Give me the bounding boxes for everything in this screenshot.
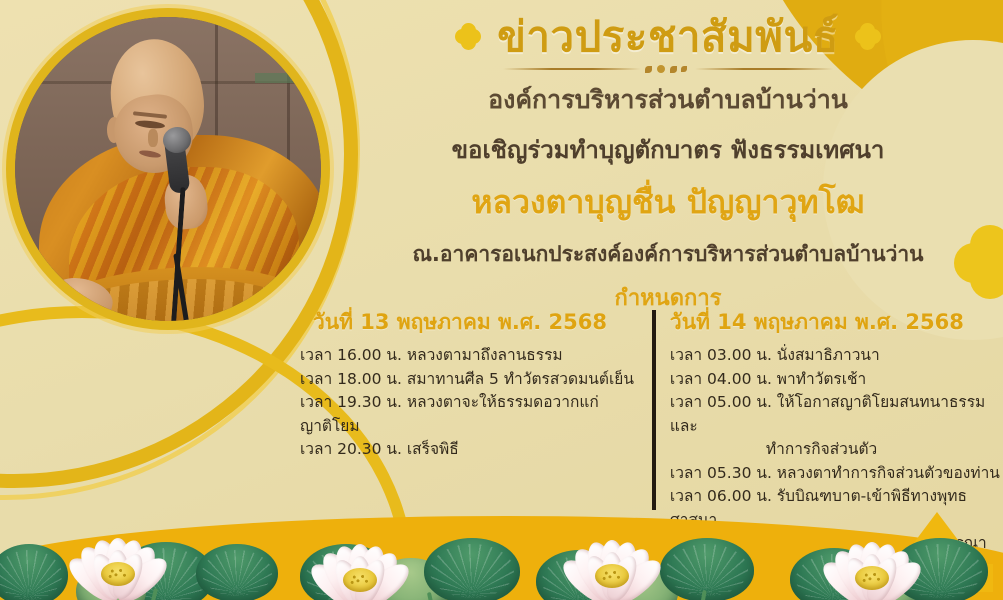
lotus-core	[595, 564, 629, 588]
lotus-flowers-band	[0, 480, 1003, 600]
schedule-item: เวลา 18.00 น. สมาทานศีล 5 ทำวัตรสวดมนต์เ…	[300, 368, 640, 392]
schedule-item: เวลา 05.00 น. ให้โอกาสญาติโยมสนทนาธรรมแล…	[670, 391, 1003, 438]
lotus-core	[343, 568, 377, 592]
monk-nose	[148, 129, 158, 147]
lotus-flower	[812, 514, 932, 600]
organization-name: องค์การบริหารส่วนตำบลบ้านว่าน	[348, 80, 988, 120]
lotus-core	[855, 566, 889, 590]
day2-heading: วันที่ 14 พฤษภาคม พ.ศ. 2568	[670, 306, 1003, 339]
invitation-line: ขอเชิญร่วมทำบุญตักบาตร ฟังธรรมเทศนา	[348, 130, 988, 169]
photo-background-accent	[255, 73, 315, 83]
schedule-item: เวลา 03.00 น. นั่งสมาธิภาวนา	[670, 344, 1003, 368]
floral-divider-icon	[503, 62, 833, 76]
schedule-item: เวลา 04.00 น. พาทำวัตรเช้า	[670, 368, 1003, 392]
venue-line: ณ.อาคารอเนกประสงค์องค์การบริหารส่วนตำบลบ…	[348, 238, 988, 271]
schedule-item: เวลา 16.00 น. หลวงตามาถึงลานธรรม	[300, 344, 640, 368]
page-title: ข่าวประชาสัมพันธ์	[497, 14, 839, 59]
header-block: ข่าวประชาสัมพันธ์ องค์การบริหารส่วนตำบลบ…	[348, 14, 988, 315]
lotus-flower	[552, 512, 672, 600]
portrait-image	[15, 17, 321, 321]
portrait-gold-ring	[6, 8, 330, 330]
quatrefoil-icon-left	[455, 24, 481, 50]
monk-name: หลวงตาบุญชื่น ปัญญาวุทโฒ	[348, 177, 988, 228]
quatrefoil-icon-right	[855, 24, 881, 50]
schedule-item: เวลา 20.30 น. เสร็จพิธี	[300, 438, 640, 462]
schedule-item: เวลา 19.30 น. หลวงตาจะให้ธรรมดอวากแก่ญาต…	[300, 391, 640, 438]
day1-heading: วันที่ 13 พฤษภาคม พ.ศ. 2568	[300, 306, 640, 339]
monk-portrait-photo	[6, 8, 330, 330]
lotus-flower	[300, 516, 420, 600]
day1-item-list: เวลา 16.00 น. หลวงตามาถึงลานธรรมเวลา 18.…	[300, 344, 640, 462]
title-row: ข่าวประชาสัมพันธ์	[348, 14, 988, 59]
lotus-flower	[58, 510, 178, 600]
schedule-item: ทำการกิจส่วนตัว	[670, 438, 1003, 462]
poster-canvas: ข่าวประชาสัมพันธ์ องค์การบริหารส่วนตำบลบ…	[0, 0, 1003, 600]
lotus-core	[101, 562, 135, 586]
